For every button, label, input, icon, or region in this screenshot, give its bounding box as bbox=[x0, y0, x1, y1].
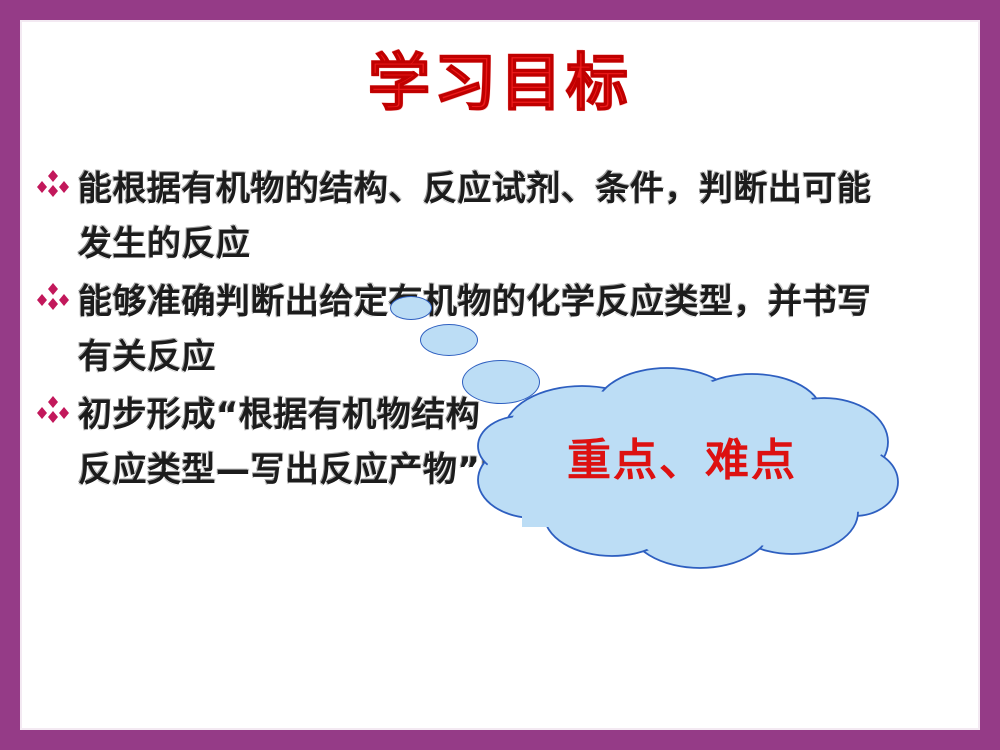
diamond-cluster-bullet-icon bbox=[36, 166, 70, 200]
list-item-line: 能够准确判断出给定有机物的化学反应类型，并书写 bbox=[78, 275, 976, 330]
list-item-text: 能根据有机物的结构、反应试剂、条件，判断出可能 发生的反应 bbox=[78, 162, 976, 272]
slide-canvas: 学习目标 能根据有机物的结构、反应试剂、条件，判断出可能 bbox=[0, 0, 1000, 750]
diamond-cluster-bullet-icon bbox=[36, 392, 70, 426]
frame-border-bottom bbox=[0, 730, 1000, 750]
frame-border-left bbox=[0, 0, 20, 750]
list-item-line: 发生的反应 bbox=[78, 217, 976, 272]
slide-content-area: 学习目标 能根据有机物的结构、反应试剂、条件，判断出可能 bbox=[22, 22, 978, 728]
frame-border-top bbox=[0, 0, 1000, 20]
page-title: 学习目标 bbox=[22, 52, 978, 114]
cloud-callout: 重点、难点 bbox=[462, 362, 902, 572]
list-item-line: 能根据有机物的结构、反应试剂、条件，判断出可能 bbox=[78, 162, 976, 217]
list-item: 能根据有机物的结构、反应试剂、条件，判断出可能 发生的反应 bbox=[36, 162, 976, 272]
callout-label: 重点、难点 bbox=[462, 424, 902, 488]
list-item-line-segment: 初步形成“根据有机物结构 bbox=[78, 395, 480, 435]
diamond-cluster-bullet-icon bbox=[36, 279, 70, 313]
frame-border-right bbox=[980, 0, 1000, 750]
thought-bubble-medium bbox=[420, 324, 478, 356]
thought-bubble-small bbox=[390, 296, 432, 320]
